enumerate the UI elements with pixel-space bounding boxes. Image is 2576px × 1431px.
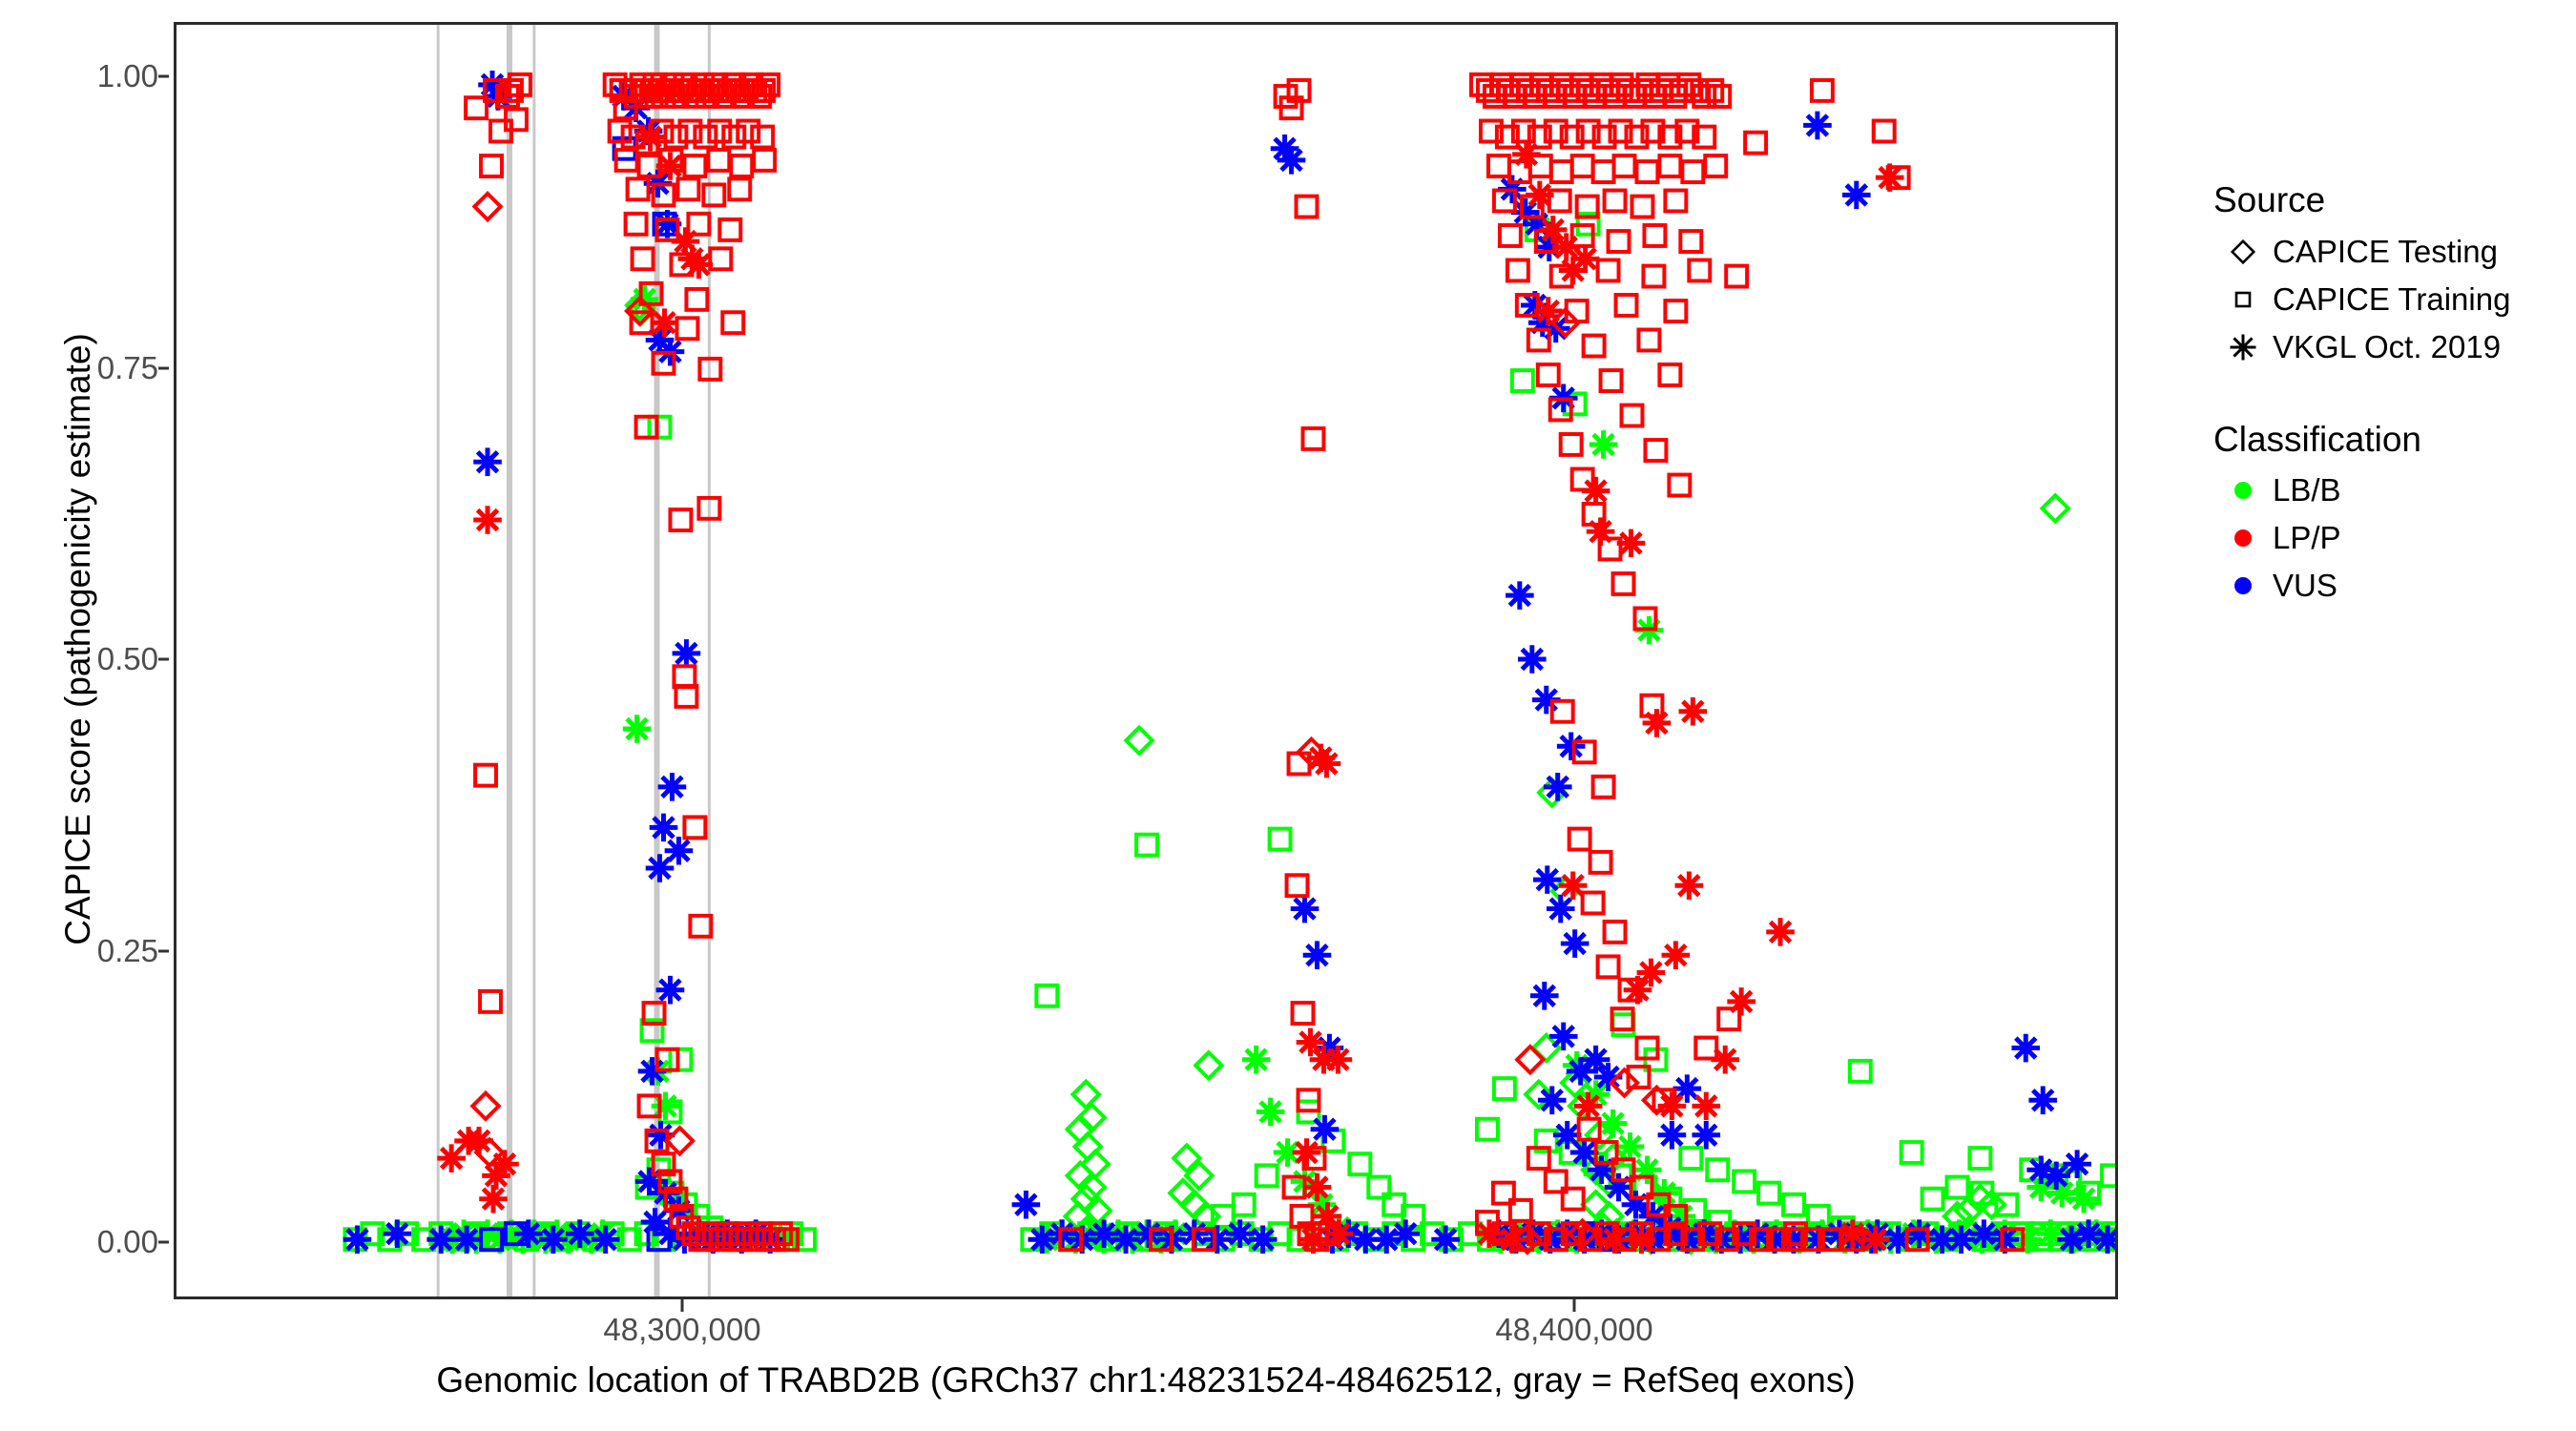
legend-item-label: LB/B bbox=[2273, 472, 2341, 508]
y-tick-mark bbox=[158, 1241, 169, 1244]
x-tick-label: 48,300,000 bbox=[603, 1312, 760, 1348]
legend-group-classification: Classification LB/BLP/PVUS bbox=[2213, 421, 2566, 611]
legend-group-source: Source CAPICE TestingCAPICE TrainingVKGL… bbox=[2213, 181, 2566, 371]
legend-item-label: VUS bbox=[2273, 568, 2337, 604]
legend-item-label: LP/P bbox=[2273, 520, 2341, 556]
series-LB-B-square bbox=[344, 214, 2115, 1250]
color-dot-icon bbox=[2213, 471, 2273, 509]
legend-item-square[interactable]: CAPICE Training bbox=[2213, 276, 2566, 323]
legend-item-label: CAPICE Testing bbox=[2273, 234, 2498, 270]
legend-title-classification: Classification bbox=[2213, 421, 2566, 460]
y-axis-ticks: 0.000.250.500.751.00 bbox=[0, 0, 158, 1431]
color-dot-icon bbox=[2213, 567, 2273, 605]
legend-item-asterisk[interactable]: VKGL Oct. 2019 bbox=[2213, 323, 2566, 371]
legend-item-VUS[interactable]: VUS bbox=[2213, 562, 2566, 610]
x-axis-title: Genomic location of TRABD2B (GRCh37 chr1… bbox=[174, 1353, 2118, 1408]
series-LB-B-asterisk bbox=[438, 285, 2115, 1254]
legend-item-label: CAPICE Training bbox=[2273, 281, 2510, 318]
y-tick-label: 0.75 bbox=[6, 350, 158, 386]
y-tick-mark bbox=[158, 366, 169, 369]
legend-item-LP-P[interactable]: LP/P bbox=[2213, 514, 2566, 562]
color-dot-icon bbox=[2213, 519, 2273, 557]
y-tick-label: 0.00 bbox=[6, 1224, 158, 1260]
legend-item-diamond[interactable]: CAPICE Testing bbox=[2213, 228, 2566, 276]
plot-panel bbox=[174, 22, 2118, 1299]
legend: Source CAPICE TestingCAPICE TrainingVKGL… bbox=[2213, 181, 2566, 659]
y-tick-mark bbox=[158, 75, 169, 78]
square-icon bbox=[2213, 280, 2273, 319]
x-tick-mark bbox=[1573, 1299, 1576, 1312]
y-tick-mark bbox=[158, 658, 169, 661]
legend-item-label: VKGL Oct. 2019 bbox=[2273, 329, 2501, 365]
series-LB-B-diamond bbox=[627, 292, 2068, 1253]
y-tick-label: 0.50 bbox=[6, 641, 158, 677]
asterisk-icon bbox=[2213, 328, 2273, 366]
scatter-canvas bbox=[177, 25, 2115, 1296]
legend-item-LB-B[interactable]: LB/B bbox=[2213, 467, 2566, 514]
y-tick-label: 0.25 bbox=[6, 933, 158, 969]
legend-title-source: Source bbox=[2213, 181, 2566, 220]
diamond-icon bbox=[2213, 233, 2273, 271]
capice-scatter-figure: CAPICE score (pathogenicity estimate) 0.… bbox=[0, 0, 2576, 1431]
y-tick-mark bbox=[158, 949, 169, 952]
series-LP-P-square bbox=[466, 74, 2115, 1250]
x-tick-label: 48,400,000 bbox=[1495, 1312, 1652, 1348]
y-tick-label: 1.00 bbox=[6, 58, 158, 94]
x-tick-mark bbox=[681, 1299, 684, 1312]
